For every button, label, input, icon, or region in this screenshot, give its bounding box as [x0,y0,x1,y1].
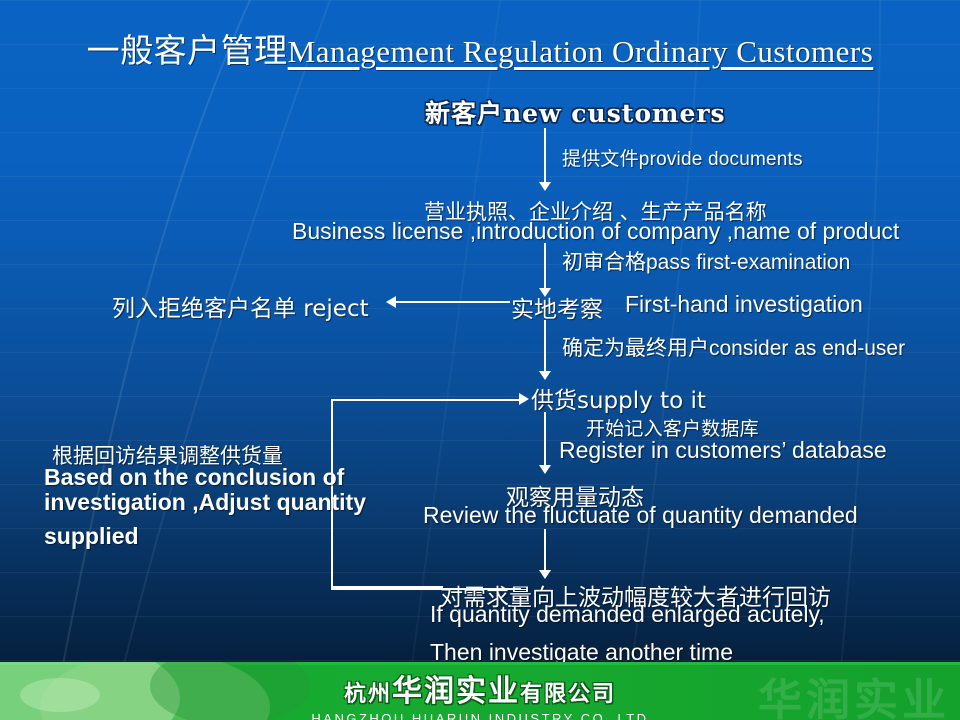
feedback-loop-bottom [331,586,443,588]
footer-brand-bar: 华润实业 杭州华润实业有限公司 HANGZHOU HUARUN INDUSTRY… [0,662,960,720]
edge-3-arrowhead [539,371,551,380]
slide-canvas: 一般客户管理Management Regulation Ordinary Cus… [0,0,960,720]
brand-prefix: 杭州 [344,682,392,707]
edge-reject-arrowhead [386,296,396,308]
brand-main: 华润实业 [392,674,520,709]
node-required-docs-english: Business license ,introduction of compan… [292,218,899,245]
brand-suffix: 有限公司 [520,682,616,707]
feedback-label-english-line1: Based on the conclusion of [44,464,344,491]
edge-3-line [544,320,546,374]
edge-1-line [544,128,546,185]
node-supply: 供货supply to it [531,381,706,415]
feedback-loop-top [331,399,521,401]
edge-1-label: 提供文件provide documents [562,144,803,171]
edge-reject-line [396,301,510,303]
footer-brand-text: 杭州华润实业有限公司 HANGZHOU HUARUN INDUSTRY CO.,… [0,666,960,720]
edge-5-line [544,529,546,573]
edge-4-arrowhead [539,465,551,474]
edge-2-label: 初审合格pass first-examination [562,246,850,276]
node-new-customers: 新客户new customers [425,94,726,130]
brand-english: HANGZHOU HUARUN INDUSTRY CO.,LTD [0,711,960,720]
node-investigation-chinese: 实地考察 [511,290,603,324]
title-chinese: 一般客户管理 [87,31,288,70]
slide-title: 一般客户管理Management Regulation Ordinary Cus… [0,24,960,72]
edge-1-arrowhead [539,182,551,191]
edge-3-label: 确定为最终用户consider as end-user [562,332,905,362]
edge-2-line [544,243,546,291]
node-investigation-english: First-hand investigation [625,291,863,318]
node-reject: 列入拒绝客户名单 reject [112,289,369,323]
edge-4-label-english: Register in customers’ database [559,437,887,464]
feedback-label-english-line2: investigation ,Adjust quantity [44,489,366,516]
feedback-label-english-line3: supplied [44,523,139,550]
node-final-english-line1: If quantity demanded enlarged acutely, [430,601,825,628]
title-english: Management Regulation Ordinary Customers [288,34,874,69]
edge-4-line [544,412,546,468]
